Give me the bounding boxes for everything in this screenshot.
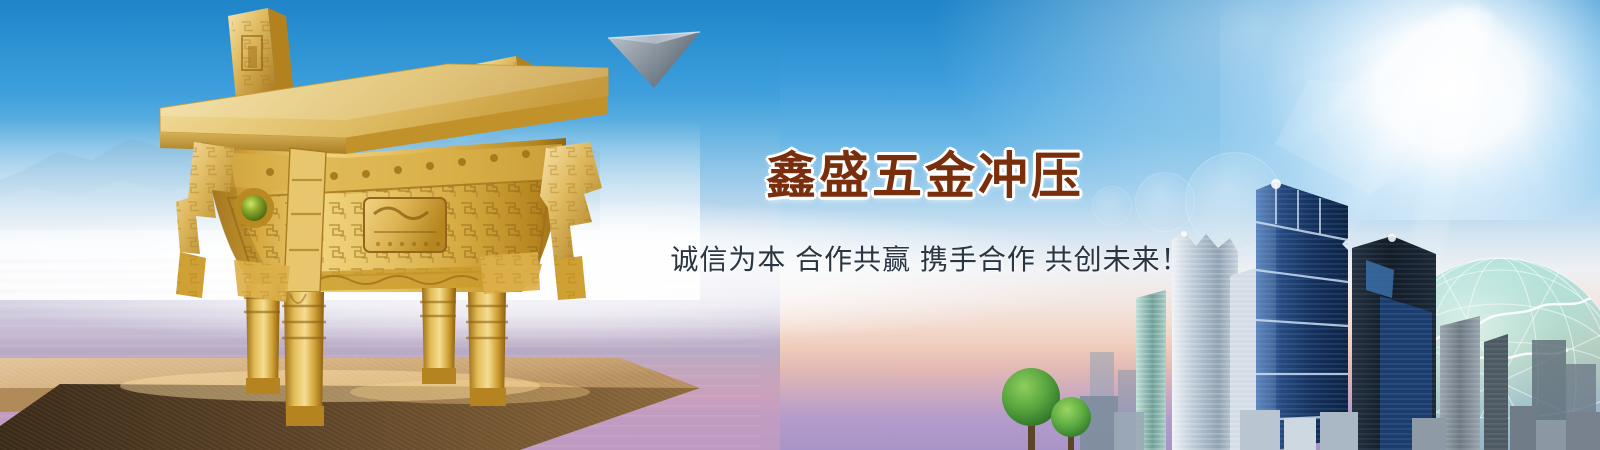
hero-banner: 鑫盛五金冲压 诚信为本 合作共赢 携手合作 共创未来！ bbox=[0, 0, 1600, 450]
mid-mist-band bbox=[0, 195, 1280, 355]
